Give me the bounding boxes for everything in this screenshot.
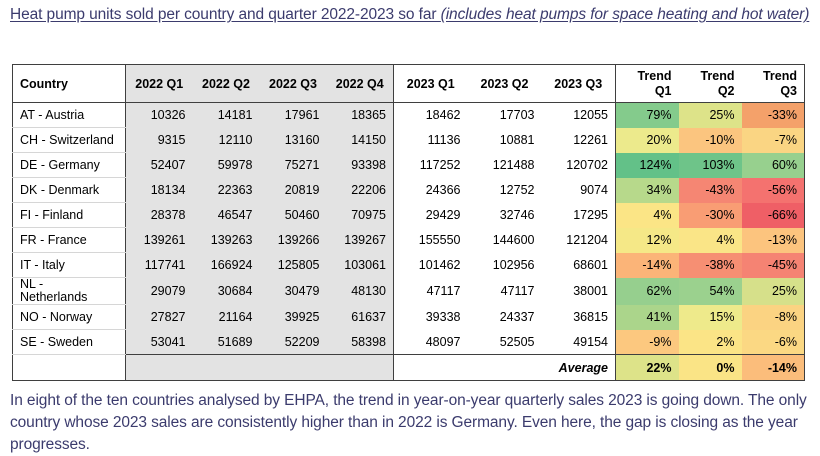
cell-2023-q3: 38001	[542, 278, 616, 305]
cell-2023-q1: 48097	[394, 330, 468, 355]
cell-average-2022-q2-blank	[193, 355, 260, 381]
cell-trend-q3: 25%	[742, 278, 805, 305]
cell-trend-q3: -8%	[742, 305, 805, 330]
cell-2023-q3: 121204	[542, 228, 616, 253]
cell-2022-q2: 51689	[193, 330, 260, 355]
cell-average-2023-q2-blank	[468, 355, 542, 381]
cell-2022-q2: 166924	[193, 253, 260, 278]
cell-2023-q2: 10881	[468, 128, 542, 153]
cell-country: NO - Norway	[13, 305, 126, 330]
table-row: NO - Norway27827211643992561637393382433…	[13, 305, 805, 330]
cell-2022-q4: 18365	[327, 103, 394, 128]
cell-average-trend-q2: 0%	[679, 355, 742, 381]
table-row: NL -Netherlands2907930684304794813047117…	[13, 278, 805, 305]
cell-trend-q1: 124%	[616, 153, 679, 178]
cell-2022-q3: 39925	[260, 305, 327, 330]
cell-trend-q1: -9%	[616, 330, 679, 355]
table-row: SE - Sweden53041516895220958398480975250…	[13, 330, 805, 355]
cell-trend-q2: -43%	[679, 178, 742, 203]
column-header-2023-q2: 2023 Q2	[468, 65, 542, 103]
cell-2022-q1: 117741	[126, 253, 193, 278]
table-row: FI - Finland2837846547504607097529429327…	[13, 203, 805, 228]
cell-trend-q3: -13%	[742, 228, 805, 253]
table-body: AT - Austria1032614181179611836518462177…	[13, 103, 805, 381]
cell-2023-q2: 102956	[468, 253, 542, 278]
caption-text: In eight of the ten countries analysed b…	[10, 390, 810, 456]
column-header-2023-q3: 2023 Q3	[542, 65, 616, 103]
cell-average-trend-q3: -14%	[742, 355, 805, 381]
cell-2023-q1: 18462	[394, 103, 468, 128]
column-header-2023-q1: 2023 Q1	[394, 65, 468, 103]
cell-country: DE - Germany	[13, 153, 126, 178]
cell-2023-q3: 49154	[542, 330, 616, 355]
heat-pump-sales-table-container: Country 2022 Q1 2022 Q2 2022 Q3 2022 Q4 …	[12, 64, 804, 381]
table-row: FR - France13926113926313926613926715555…	[13, 228, 805, 253]
cell-trend-q2: 54%	[679, 278, 742, 305]
cell-2023-q1: 11136	[394, 128, 468, 153]
cell-trend-q3: -7%	[742, 128, 805, 153]
cell-2023-q3: 12055	[542, 103, 616, 128]
trend-q3-line2: Q3	[749, 84, 798, 99]
heat-pump-sales-table: Country 2022 Q1 2022 Q2 2022 Q3 2022 Q4 …	[12, 64, 805, 381]
cell-country: CH - Switzerland	[13, 128, 126, 153]
cell-country: IT - Italy	[13, 253, 126, 278]
page-title: Heat pump units sold per country and qua…	[10, 4, 810, 26]
cell-trend-q3: -66%	[742, 203, 805, 228]
cell-trend-q2: -38%	[679, 253, 742, 278]
table-row: AT - Austria1032614181179611836518462177…	[13, 103, 805, 128]
cell-2023-q3: 68601	[542, 253, 616, 278]
average-label: Average	[542, 355, 616, 381]
table-row: IT - Italy117741166924125805103061101462…	[13, 253, 805, 278]
cell-country-line: Netherlands	[20, 291, 118, 304]
cell-average-2022-q1-blank	[126, 355, 193, 381]
cell-trend-q2: 2%	[679, 330, 742, 355]
cell-2022-q1: 139261	[126, 228, 193, 253]
table-average-row: Average22%0%-14%	[13, 355, 805, 381]
cell-2022-q1: 28378	[126, 203, 193, 228]
cell-2022-q2: 46547	[193, 203, 260, 228]
cell-2022-q1: 10326	[126, 103, 193, 128]
table-header-row: Country 2022 Q1 2022 Q2 2022 Q3 2022 Q4 …	[13, 65, 805, 103]
cell-trend-q3: -45%	[742, 253, 805, 278]
cell-2023-q3: 36815	[542, 305, 616, 330]
cell-2022-q2: 30684	[193, 278, 260, 305]
cell-trend-q3: 60%	[742, 153, 805, 178]
cell-2023-q3: 9074	[542, 178, 616, 203]
cell-2023-q2: 52505	[468, 330, 542, 355]
cell-2022-q2: 21164	[193, 305, 260, 330]
cell-2022-q3: 20819	[260, 178, 327, 203]
cell-2022-q1: 9315	[126, 128, 193, 153]
cell-2023-q1: 47117	[394, 278, 468, 305]
cell-2022-q1: 18134	[126, 178, 193, 203]
cell-trend-q1: 62%	[616, 278, 679, 305]
column-header-2022-q4: 2022 Q4	[327, 65, 394, 103]
column-header-2022-q2: 2022 Q2	[193, 65, 260, 103]
cell-trend-q2: 25%	[679, 103, 742, 128]
cell-2023-q2: 32746	[468, 203, 542, 228]
cell-trend-q3: -6%	[742, 330, 805, 355]
column-header-trend-q2: Trend Q2	[679, 65, 742, 103]
cell-2022-q4: 93398	[327, 153, 394, 178]
cell-2022-q2: 12110	[193, 128, 260, 153]
table-header: Country 2022 Q1 2022 Q2 2022 Q3 2022 Q4 …	[13, 65, 805, 103]
trend-q2-line2: Q2	[686, 84, 735, 99]
cell-2023-q2: 24337	[468, 305, 542, 330]
table-row: CH - Switzerland931512110131601415011136…	[13, 128, 805, 153]
cell-2023-q2: 144600	[468, 228, 542, 253]
cell-2022-q3: 125805	[260, 253, 327, 278]
cell-country: FR - France	[13, 228, 126, 253]
cell-2022-q1: 52407	[126, 153, 193, 178]
cell-average-2022-q4-blank	[327, 355, 394, 381]
cell-average-trend-q1: 22%	[616, 355, 679, 381]
table-row: DE - Germany5240759978752719339811725212…	[13, 153, 805, 178]
cell-trend-q1: 20%	[616, 128, 679, 153]
cell-country: AT - Austria	[13, 103, 126, 128]
column-header-2022-q1: 2022 Q1	[126, 65, 193, 103]
cell-2022-q3: 30479	[260, 278, 327, 305]
cell-2022-q1: 27827	[126, 305, 193, 330]
column-header-country: Country	[13, 65, 126, 103]
cell-country: FI - Finland	[13, 203, 126, 228]
cell-trend-q1: 79%	[616, 103, 679, 128]
page-title-main: Heat pump units sold per country and qua…	[10, 6, 441, 23]
cell-trend-q2: 15%	[679, 305, 742, 330]
cell-2022-q4: 14150	[327, 128, 394, 153]
cell-country: DK - Denmark	[13, 178, 126, 203]
cell-2022-q2: 139263	[193, 228, 260, 253]
column-header-2022-q3: 2022 Q3	[260, 65, 327, 103]
cell-trend-q1: -14%	[616, 253, 679, 278]
cell-trend-q3: -33%	[742, 103, 805, 128]
cell-2022-q4: 48130	[327, 278, 394, 305]
cell-2023-q1: 155550	[394, 228, 468, 253]
cell-2022-q3: 50460	[260, 203, 327, 228]
page-title-subtitle: (includes heat pumps for space heating a…	[441, 6, 810, 23]
column-header-trend-q3: Trend Q3	[742, 65, 805, 103]
cell-2022-q4: 139267	[327, 228, 394, 253]
cell-2023-q1: 24366	[394, 178, 468, 203]
cell-2023-q2: 17703	[468, 103, 542, 128]
cell-2023-q2: 121488	[468, 153, 542, 178]
cell-2023-q1: 29429	[394, 203, 468, 228]
cell-trend-q1: 12%	[616, 228, 679, 253]
cell-trend-q3: -56%	[742, 178, 805, 203]
cell-2023-q3: 120702	[542, 153, 616, 178]
cell-2022-q3: 13160	[260, 128, 327, 153]
cell-trend-q1: 4%	[616, 203, 679, 228]
cell-trend-q2: -30%	[679, 203, 742, 228]
cell-country: NL -Netherlands	[13, 278, 126, 305]
cell-2023-q3: 12261	[542, 128, 616, 153]
cell-2022-q1: 53041	[126, 330, 193, 355]
cell-average-2022-q3-blank	[260, 355, 327, 381]
cell-2023-q2: 12752	[468, 178, 542, 203]
column-header-trend-q1: Trend Q1	[616, 65, 679, 103]
cell-2022-q3: 139266	[260, 228, 327, 253]
trend-q1-line1: Trend	[623, 69, 672, 84]
trend-q3-line1: Trend	[749, 69, 798, 84]
cell-2022-q3: 52209	[260, 330, 327, 355]
cell-2022-q3: 75271	[260, 153, 327, 178]
cell-2022-q1: 29079	[126, 278, 193, 305]
cell-trend-q2: -10%	[679, 128, 742, 153]
cell-2022-q4: 70975	[327, 203, 394, 228]
cell-trend-q1: 34%	[616, 178, 679, 203]
trend-q2-line1: Trend	[686, 69, 735, 84]
cell-trend-q1: 41%	[616, 305, 679, 330]
cell-2022-q2: 14181	[193, 103, 260, 128]
cell-2022-q2: 59978	[193, 153, 260, 178]
cell-average-2023-q1-blank	[394, 355, 468, 381]
cell-2023-q1: 117252	[394, 153, 468, 178]
cell-average-country-blank	[13, 355, 126, 381]
cell-2022-q4: 61637	[327, 305, 394, 330]
cell-2023-q3: 17295	[542, 203, 616, 228]
cell-2022-q2: 22363	[193, 178, 260, 203]
cell-country: SE - Sweden	[13, 330, 126, 355]
table-row: DK - Denmark1813422363208192220624366127…	[13, 178, 805, 203]
cell-2022-q4: 103061	[327, 253, 394, 278]
cell-2022-q3: 17961	[260, 103, 327, 128]
trend-q1-line2: Q1	[623, 84, 672, 99]
cell-2023-q2: 47117	[468, 278, 542, 305]
cell-trend-q2: 4%	[679, 228, 742, 253]
cell-2022-q4: 22206	[327, 178, 394, 203]
cell-2022-q4: 58398	[327, 330, 394, 355]
cell-2023-q1: 101462	[394, 253, 468, 278]
cell-2023-q1: 39338	[394, 305, 468, 330]
cell-trend-q2: 103%	[679, 153, 742, 178]
